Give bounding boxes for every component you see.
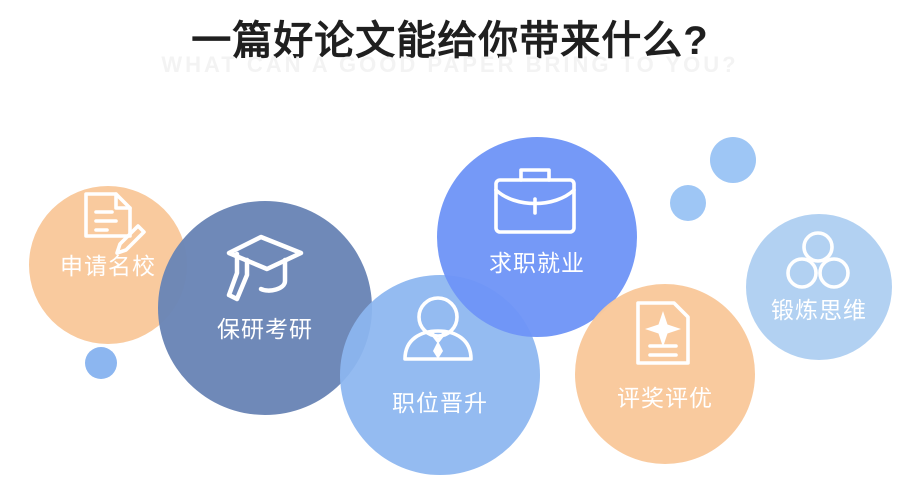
bubble-circle[interactable] [575,284,755,464]
bubble-label: 锻炼思维 [771,297,867,323]
bubble-thinking[interactable]: 锻炼思维 [746,214,892,360]
bubble-circle[interactable] [746,214,892,360]
poster-canvas: 一篇好论文能给你带来什么? WHAT CAN A GOOD PAPER BRIN… [0,0,900,494]
bubble-label: 申请名校 [60,253,156,279]
bubble-label: 职位晋升 [392,390,488,416]
bubble-postgrad[interactable]: 保研考研 [158,201,372,415]
decoration-dot-top-right [710,137,756,183]
bubble-label: 评奖评优 [617,385,713,411]
decoration-dot-left [85,347,117,379]
bubble-label: 求职就业 [489,250,585,276]
bubble-diagram: 申请名校 保研考研 职位晋升 [0,0,900,494]
bubble-circle[interactable] [158,201,372,415]
bubble-label: 保研考研 [217,316,313,342]
decoration-dot-mid-right [670,185,706,221]
bubble-awards[interactable]: 评奖评优 [575,284,755,464]
